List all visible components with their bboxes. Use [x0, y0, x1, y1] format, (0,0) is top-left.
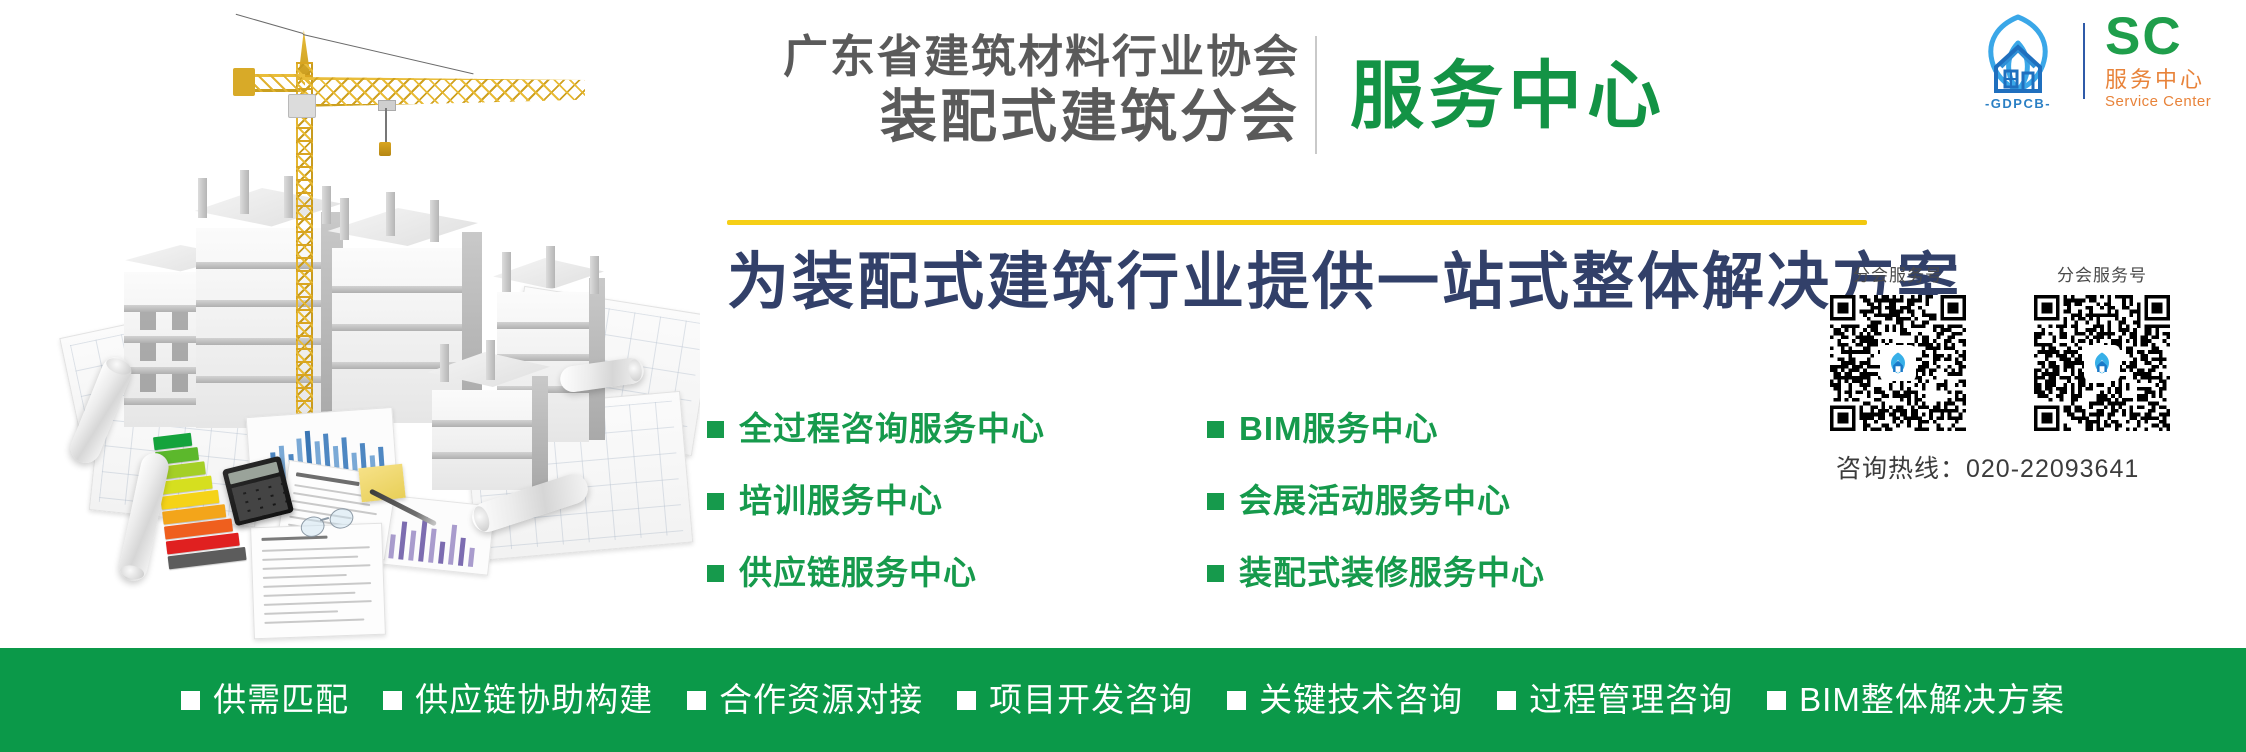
bullet-square-icon [707, 565, 724, 582]
bottom-bar-label: 供应链协助构建 [415, 680, 653, 720]
window [140, 343, 156, 361]
gdpcb-logo-mark: -GDPCB- [1965, 11, 2071, 111]
content-panel: 广东省建筑材料行业协会 装配式建筑分会 服务中心 为装配式建筑行业提供一站式整体… [700, 0, 2246, 648]
service-item[interactable]: 会展活动服务中心 [1207, 477, 1545, 525]
sc-abbrev: SC [2105, 11, 2211, 63]
bottom-bar-label: 关键技术咨询 [1259, 680, 1463, 720]
bottom-bar-label: 项目开发咨询 [989, 680, 1193, 720]
bullet-square-icon [707, 493, 724, 510]
flame-house-icon [1965, 11, 2071, 99]
service-item-label: 装配式装修服务中心 [1239, 553, 1545, 593]
window [140, 374, 156, 392]
crane-hook-block [379, 142, 391, 156]
chart-bar [408, 530, 416, 560]
crane-mast [296, 62, 313, 452]
column [386, 192, 395, 236]
window [172, 312, 188, 330]
slogan: 为装配式建筑行业提供一站式整体解决方案 [727, 245, 1962, 321]
service-item[interactable]: BIM服务中心 [1207, 405, 1545, 453]
service-item-label: BIM服务中心 [1239, 409, 1439, 449]
bottom-bar-item[interactable]: BIM整体解决方案 [1767, 680, 2065, 720]
chart-bar [468, 548, 475, 567]
bullet-square-icon [707, 421, 724, 438]
chart-bar [438, 541, 445, 563]
column [502, 252, 511, 292]
chart-bar [458, 538, 466, 566]
hotline-text: 咨询热线：020-22093641 [1818, 453, 2238, 485]
logo-divider [2083, 23, 2085, 99]
bullet-square-icon [957, 691, 976, 710]
bottom-bar-item[interactable]: 关键技术咨询 [1227, 680, 1463, 720]
bullet-square-icon [181, 691, 200, 710]
qr-label: 分会服务号 [2022, 265, 2182, 287]
column [430, 200, 439, 242]
gdpcb-caption: -GDPCB- [1965, 96, 2071, 111]
gold-divider [727, 220, 1867, 225]
service-list-right: BIM服务中心 会展活动服务中心 装配式装修服务中心 [1207, 405, 1545, 621]
qr-row: 分会服务号 分会服务号 [1818, 265, 2238, 431]
qr-code-image[interactable] [2034, 295, 2170, 431]
bottom-service-bar: 供需匹配 供应链协助构建 合作资源对接 项目开发咨询 关键技术咨询 过程管理咨询 [0, 648, 2246, 752]
service-list-left: 全过程咨询服务中心 培训服务中心 供应链服务中心 [707, 405, 1045, 621]
association-branch-name: 装配式建筑分会 [585, 84, 1300, 150]
qr-code-image[interactable] [1830, 295, 1966, 431]
column [198, 178, 207, 218]
service-item-label: 会展活动服务中心 [1239, 481, 1511, 521]
floor-slab [432, 420, 532, 427]
column [240, 170, 249, 214]
qr-cell: 分会服务号 [2022, 265, 2182, 431]
association-name-line1: 广东省建筑材料行业协会 [585, 30, 1300, 84]
floor-slab [432, 452, 532, 459]
bottom-bar-label: 过程管理咨询 [1529, 680, 1733, 720]
crane-trolley [378, 100, 396, 111]
form-sheet [250, 523, 386, 640]
qr-center-logo [2085, 346, 2119, 380]
window [172, 374, 188, 392]
association-name-block: 广东省建筑材料行业协会 装配式建筑分会 [585, 30, 1300, 150]
service-item[interactable]: 供应链服务中心 [707, 549, 1045, 597]
floor-slab [332, 286, 462, 293]
bottom-bar-item[interactable]: 项目开发咨询 [957, 680, 1193, 720]
column [590, 256, 599, 294]
chart-bar [418, 517, 428, 562]
crane-counterweight [233, 68, 255, 96]
gdpcb-mini-icon [1885, 350, 1911, 376]
bottom-bar-items: 供需匹配 供应链协助构建 合作资源对接 项目开发咨询 关键技术咨询 过程管理咨询 [181, 680, 2065, 720]
bottom-bar-item[interactable]: 供需匹配 [181, 680, 349, 720]
bottom-bar-item[interactable]: 合作资源对接 [687, 680, 923, 720]
bottom-bar-label: 合作资源对接 [719, 680, 923, 720]
qr-block: 分会服务号 分会服务号 [1818, 265, 2238, 485]
floor-slab [497, 322, 589, 329]
service-item-label: 全过程咨询服务中心 [739, 409, 1045, 449]
building-low-facade [432, 390, 532, 490]
bottom-bar-item[interactable]: 供应链协助构建 [383, 680, 653, 720]
floor-slab [124, 305, 206, 312]
column [322, 186, 331, 224]
column [440, 344, 449, 382]
bullet-square-icon [1767, 691, 1786, 710]
building-low-side [532, 376, 548, 488]
bullet-square-icon [1207, 565, 1224, 582]
gdpcb-mini-icon [2089, 350, 2115, 376]
service-item-label: 培训服务中心 [739, 481, 943, 521]
service-item[interactable]: 培训服务中心 [707, 477, 1045, 525]
floor-slab [124, 336, 206, 343]
crane-operator-cab [288, 94, 316, 118]
bullet-square-icon [1497, 691, 1516, 710]
chart-bar [428, 529, 437, 563]
floor-slab [124, 398, 206, 405]
chart-bar [398, 521, 407, 559]
masthead-divider [1315, 36, 1317, 154]
building-tower-side [589, 278, 605, 440]
bullet-square-icon [1227, 691, 1246, 710]
column [546, 246, 555, 288]
bottom-bar-label: BIM整体解决方案 [1799, 680, 2065, 720]
chart-bar [388, 534, 395, 558]
floor-slab [332, 324, 462, 331]
service-center-title: 服务中心 [1350, 50, 1666, 142]
column [486, 340, 495, 380]
bullet-square-icon [687, 691, 706, 710]
service-item[interactable]: 全过程咨询服务中心 [707, 405, 1045, 453]
service-item[interactable]: 装配式装修服务中心 [1207, 549, 1545, 597]
service-item-label: 供应链服务中心 [739, 553, 977, 593]
qr-center-logo [1881, 346, 1915, 380]
bottom-bar-label: 供需匹配 [213, 680, 349, 720]
sc-chinese: 服务中心 [2105, 67, 2211, 93]
window [172, 343, 188, 361]
corner-logo: -GDPCB- SC 服务中心 Service Center [1965, 8, 2235, 113]
qr-label: 分会服务号 [1818, 265, 1978, 287]
chart-bar [448, 525, 457, 565]
floor-slab [124, 367, 206, 374]
sc-english: Service Center [2105, 93, 2211, 111]
sc-logo-text: SC 服务中心 Service Center [2105, 11, 2211, 111]
bullet-square-icon [1207, 421, 1224, 438]
banner-root: 广东省建筑材料行业协会 装配式建筑分会 服务中心 为装配式建筑行业提供一站式整体… [0, 0, 2246, 752]
bullet-square-icon [383, 691, 402, 710]
column [284, 176, 293, 218]
bottom-bar-item[interactable]: 过程管理咨询 [1497, 680, 1733, 720]
energy-rating-chart [153, 428, 247, 557]
qr-cell: 分会服务号 [1818, 265, 1978, 431]
crane-tie-bar [236, 0, 315, 34]
column [340, 198, 349, 240]
bullet-square-icon [1207, 493, 1224, 510]
window [140, 312, 156, 330]
